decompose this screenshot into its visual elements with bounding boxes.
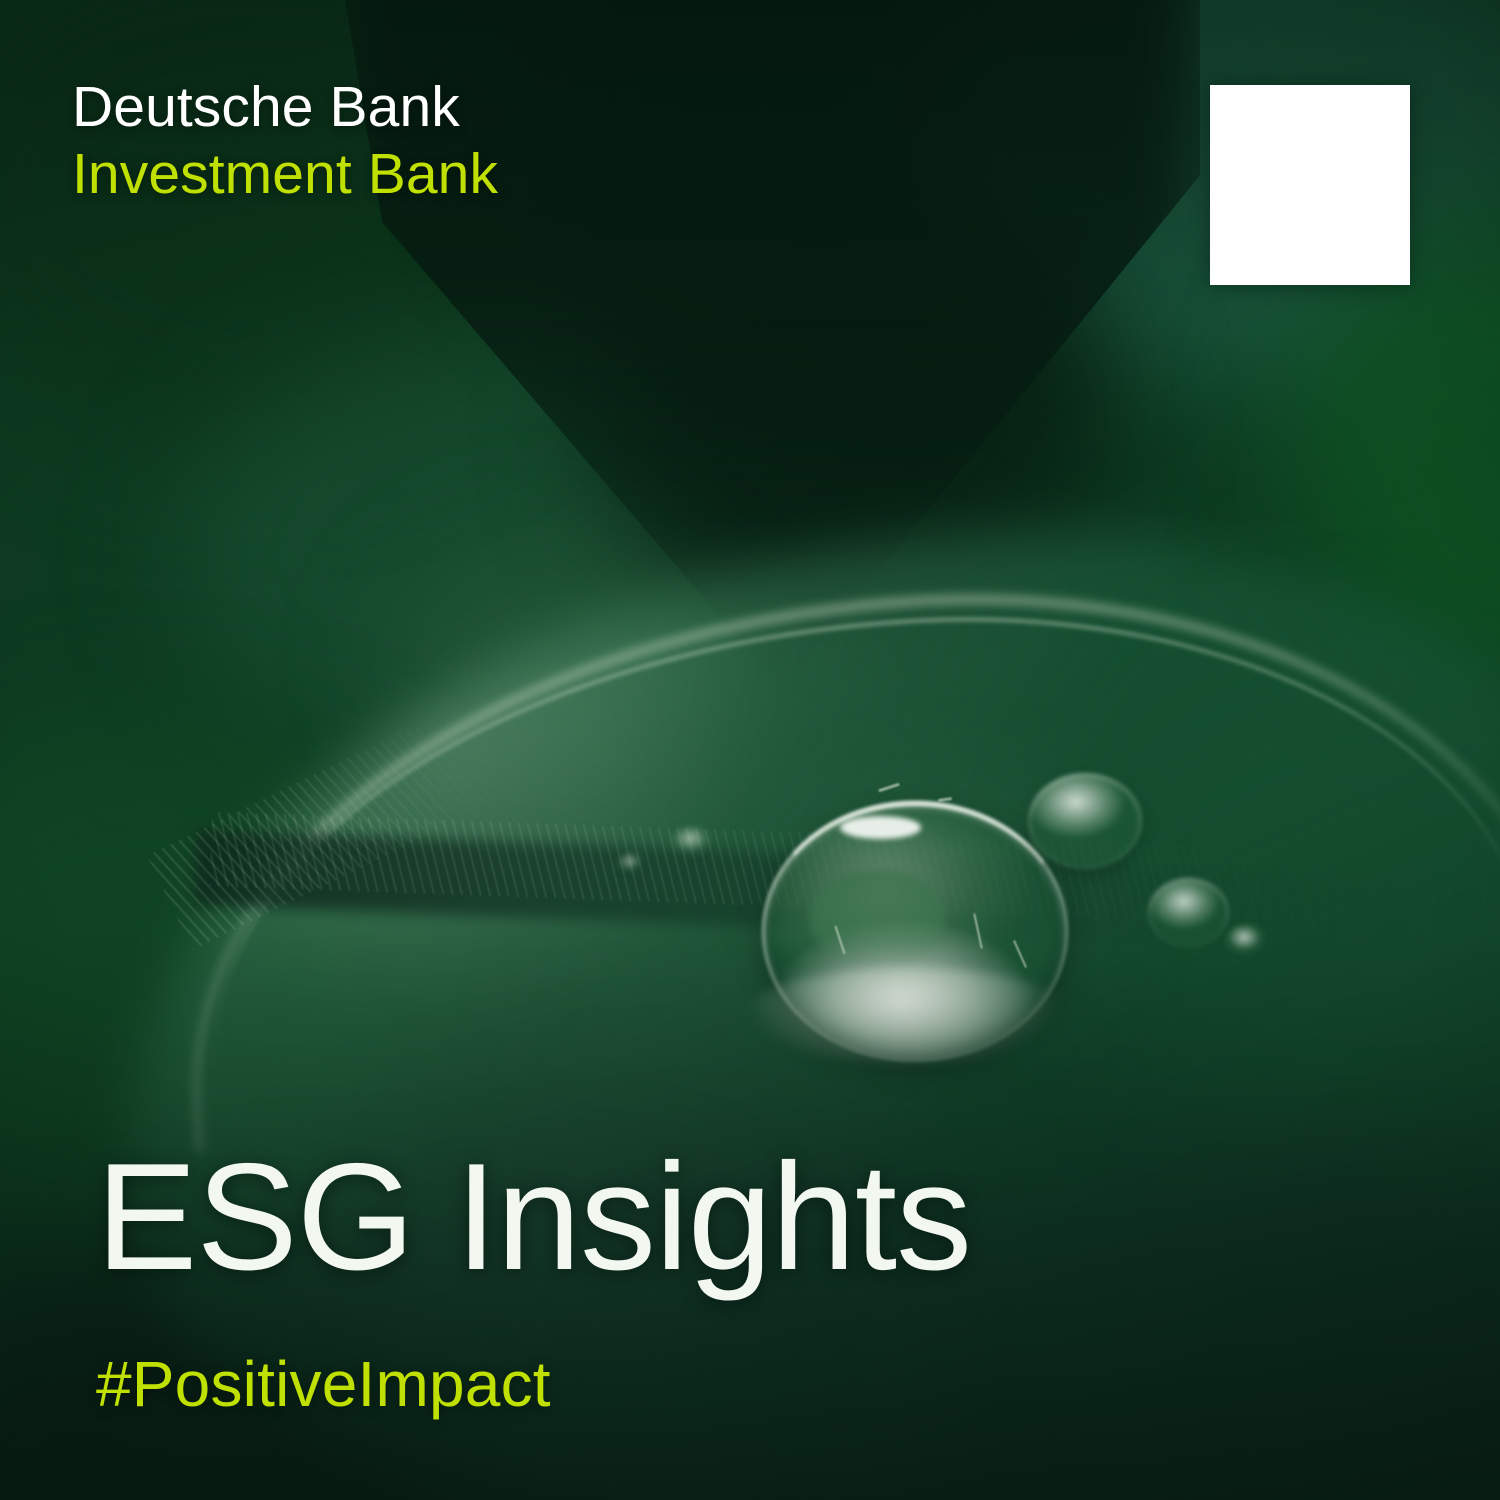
esg-insights-poster: Deutsche Bank Investment Bank ESG Insigh…: [0, 0, 1500, 1500]
brand-name-division: Investment Bank: [72, 145, 498, 203]
deutsche-bank-logo-icon: [1210, 85, 1410, 285]
poster-content: Deutsche Bank Investment Bank ESG Insigh…: [0, 0, 1500, 1500]
brand-lockup: Deutsche Bank Investment Bank: [72, 78, 498, 203]
page-title: ESG Insights: [96, 1141, 971, 1293]
campaign-hashtag: #PositiveImpact: [96, 1352, 551, 1416]
brand-name-primary: Deutsche Bank: [72, 78, 498, 136]
